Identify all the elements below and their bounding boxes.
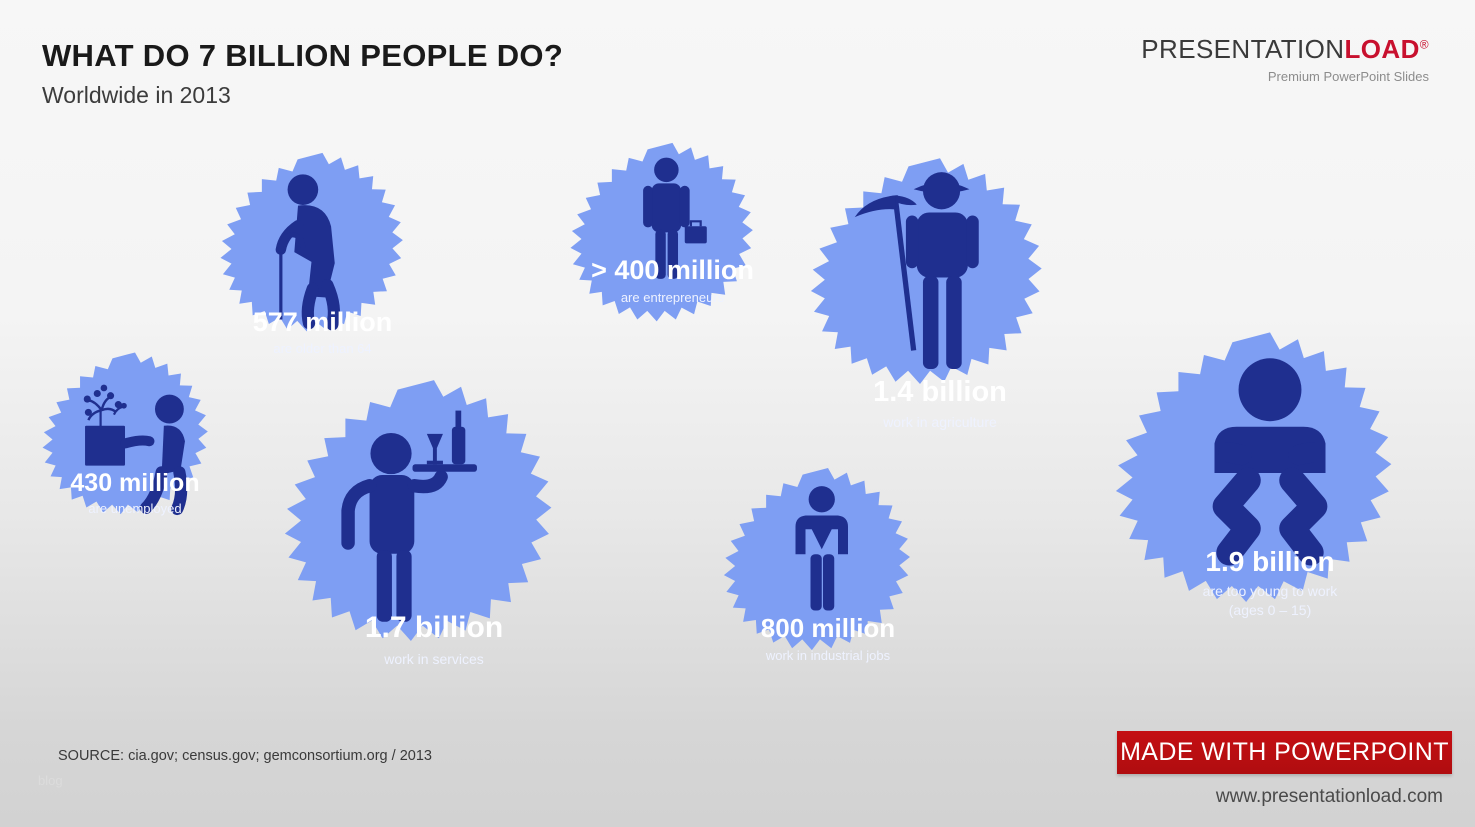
gear-shape-services: [255, 373, 613, 731]
gear-industrial-jobs[interactable]: 800 million work in industrial jobs: [703, 463, 953, 713]
made-with-powerpoint-badge: MADE WITH POWERPOINT: [1117, 731, 1452, 774]
gear-too-young[interactable]: 1.9 billion are too young to work (ages …: [1085, 325, 1455, 695]
gear-shape-too-young: [1085, 325, 1455, 695]
logo-text-presentation: PRESENTATION: [1141, 34, 1344, 64]
gear-services[interactable]: 1.7 billion work in services: [255, 373, 613, 731]
logo-text-load: LOAD: [1344, 34, 1419, 64]
gear-shape-industrial-jobs: [703, 463, 953, 713]
brand-logo: PRESENTATIONLOAD® Premium PowerPoint Sli…: [1141, 36, 1429, 84]
infographic-slide: WHAT DO 7 BILLION PEOPLE DO? Worldwide i…: [0, 0, 1475, 827]
page-title: WHAT DO 7 BILLION PEOPLE DO?: [42, 38, 563, 74]
gear-entrepreneurs[interactable]: > 400 million are entrepreneurs: [550, 138, 795, 383]
logo-wordmark: PRESENTATIONLOAD®: [1141, 36, 1429, 62]
logo-tagline: Premium PowerPoint Slides: [1141, 69, 1429, 84]
gear-older-than-64[interactable]: 577 million are older than 64: [200, 148, 445, 393]
registered-trademark-icon: ®: [1420, 37, 1429, 51]
page-subtitle: Worldwide in 2013: [42, 82, 231, 109]
website-url[interactable]: www.presentationload.com: [1216, 786, 1443, 808]
blog-watermark: blog: [38, 773, 63, 788]
gear-shape-older-than-64: [200, 148, 445, 393]
gear-agriculture[interactable]: 1.4 billion work in agriculture: [785, 152, 1095, 462]
gear-shape-agriculture: [785, 152, 1095, 462]
source-note: SOURCE: cia.gov; census.gov; gemconsorti…: [58, 748, 432, 764]
gear-shape-entrepreneurs: [550, 138, 795, 383]
